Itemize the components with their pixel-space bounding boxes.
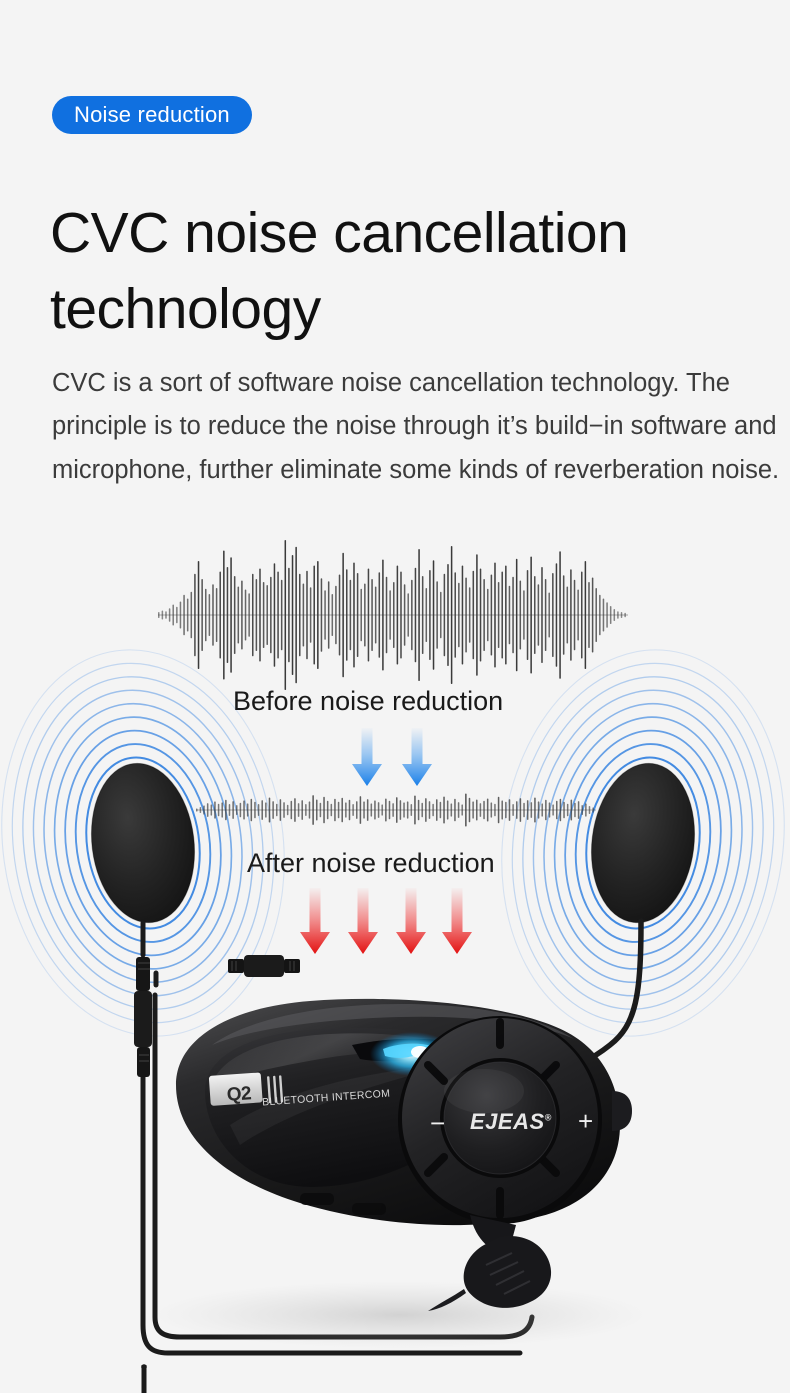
inline-cable-connector: [228, 955, 300, 977]
inline-jack-connector-left: [134, 957, 152, 1077]
arrow-red-down: [348, 888, 378, 954]
headset-device: [176, 999, 632, 1311]
arrows-red-group: [300, 888, 472, 954]
noise-reduction-illustration: [0, 525, 790, 1393]
page-title: CVC noise cancellation technology: [50, 196, 750, 348]
arrow-red-down: [300, 888, 330, 954]
speaker-right: [583, 757, 704, 928]
arrows-blue-group: [352, 728, 432, 786]
volume-up-button[interactable]: +: [578, 1108, 593, 1134]
arrow-red-down: [442, 888, 472, 954]
product-feature-page: Noise reduction CVC noise cancellation t…: [0, 0, 790, 1393]
device-brand-logo: EJEAS®: [470, 1109, 552, 1135]
device-shadow: [150, 1281, 650, 1349]
waveform-before-axis: [158, 614, 628, 615]
volume-down-button[interactable]: −: [430, 1110, 445, 1136]
device-model-badge: Q2: [213, 1082, 264, 1107]
arrow-blue-down: [402, 728, 432, 786]
registered-mark: ®: [545, 1113, 552, 1123]
arrow-blue-down: [352, 728, 382, 786]
label-before-noise-reduction: Before noise reduction: [233, 686, 503, 717]
body-description: CVC is a sort of software noise cancella…: [52, 362, 780, 493]
arrow-red-down: [396, 888, 426, 954]
section-badge: Noise reduction: [52, 96, 252, 134]
label-after-noise-reduction: After noise reduction: [247, 848, 495, 879]
waveform-before: [158, 540, 628, 690]
speaker-pad-left: [83, 757, 204, 928]
waveform-after-axis: [196, 809, 596, 810]
speaker-pad-right: [583, 757, 704, 928]
side-button: [612, 1091, 632, 1131]
brand-text: EJEAS: [470, 1109, 545, 1134]
